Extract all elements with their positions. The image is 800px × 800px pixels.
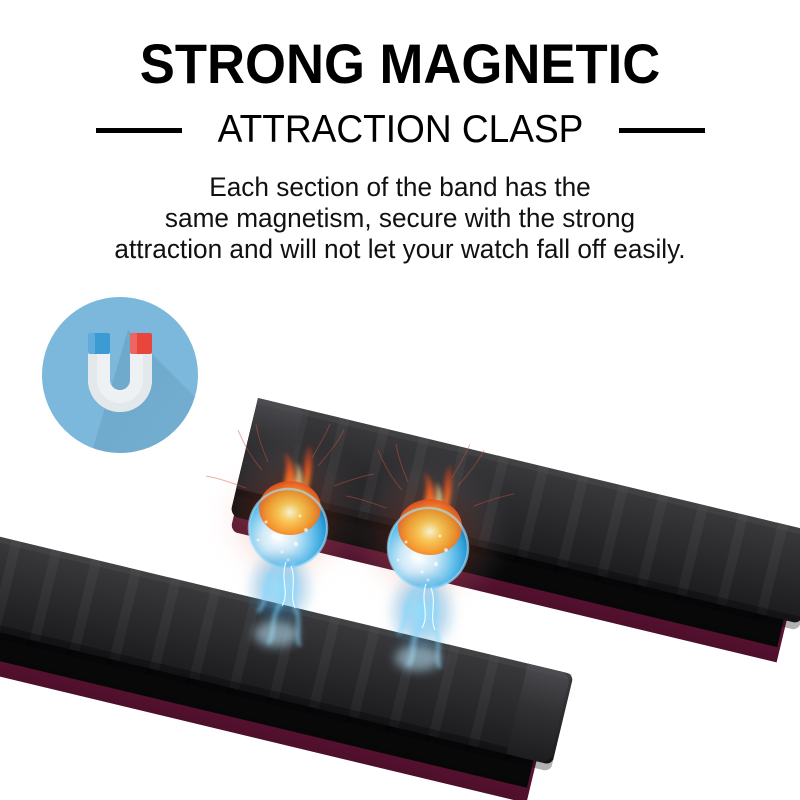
decorative-rule-left (96, 128, 182, 133)
description-line-1: Each section of the band has the (12, 172, 788, 203)
subtitle-row: ATTRACTION CLASP (0, 108, 800, 152)
description-text: Each section of the band has the same ma… (12, 172, 788, 265)
page-title: STRONG MAGNETIC (24, 34, 776, 94)
decorative-rule-right (619, 128, 705, 133)
product-feature-card: STRONG MAGNETIC ATTRACTION CLASP Each se… (0, 0, 800, 800)
page-subtitle: ATTRACTION CLASP (217, 108, 583, 152)
description-line-2: same magnetism, secure with the strong (12, 203, 788, 234)
description-line-3: attraction and will not let your watch f… (12, 234, 788, 265)
